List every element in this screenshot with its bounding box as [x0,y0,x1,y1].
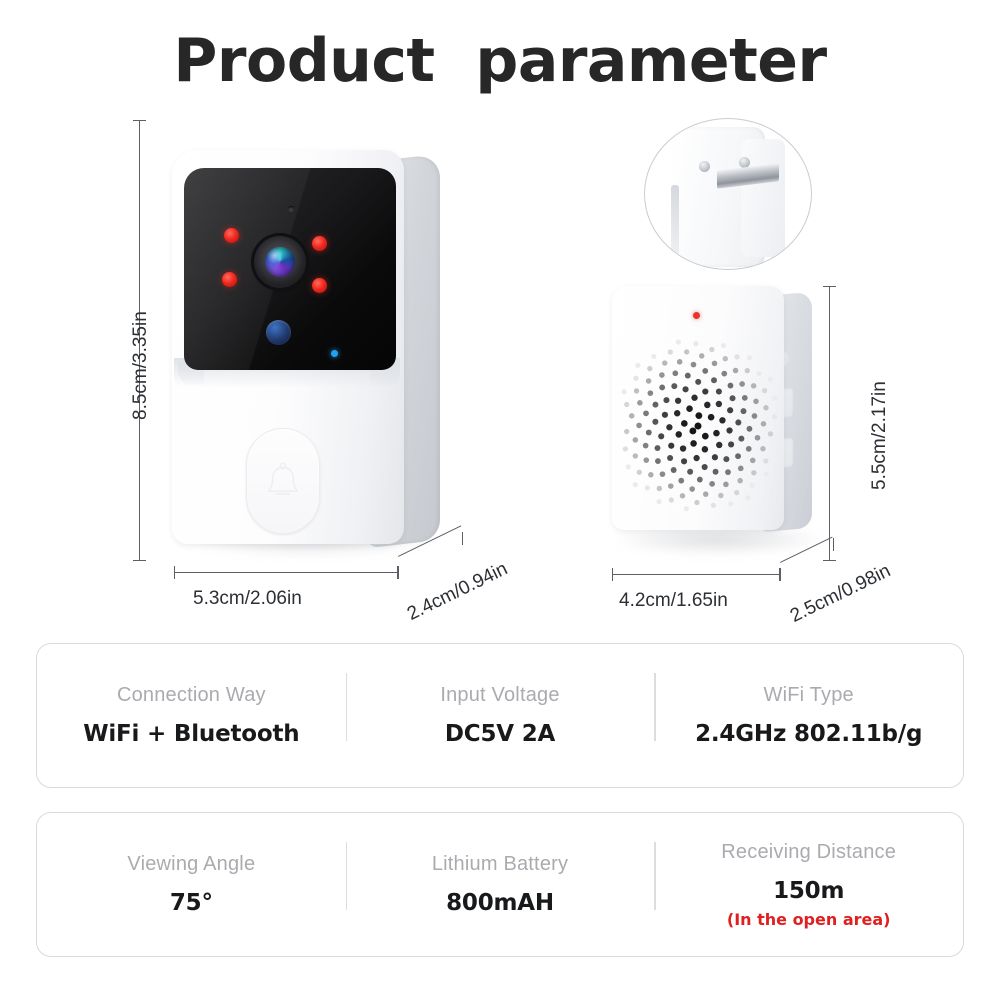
status-led-icon [331,350,338,357]
dimension-cap [780,568,781,581]
camera-lens-icon [254,236,306,288]
spec-value: 2.4GHz 802.11b/g [695,721,922,747]
spec-cell-lithium-battery: Lithium Battery 800mAH [346,813,655,956]
spec-cell-input-voltage: Input Voltage DC5V 2A [346,644,655,787]
plug-detail-inset [644,118,812,270]
chime-product-image [612,280,832,560]
dimension-cap [823,560,836,561]
spec-value: 800mAH [446,890,554,916]
spec-cell-receiving-distance: Receiving Distance 150m (In the open are… [654,813,963,956]
doorbell-width-dimension-line [174,572,398,573]
spec-value: WiFi + Bluetooth [83,721,299,747]
bell-icon [263,460,303,502]
chime-front-body [612,286,784,530]
dimension-cap [398,566,399,579]
doorbell-front-body [172,150,404,544]
spec-card-1: Connection Way WiFi + Bluetooth Input Vo… [36,643,964,788]
chime-status-led-icon [693,312,700,319]
doorbell-product-image [172,120,442,560]
spec-row: Viewing Angle 75° Lithium Battery 800mAH… [37,813,963,956]
spec-row: Connection Way WiFi + Bluetooth Input Vo… [37,644,963,787]
spec-label: Viewing Angle [127,853,255,876]
doorbell-width-label: 5.3cm/2.06in [193,588,302,610]
screw-icon [699,161,710,172]
dimension-cap [133,560,146,561]
spec-value: 75° [170,890,213,916]
dimension-cap [133,120,146,121]
spec-label: Receiving Distance [721,841,896,864]
dimension-cap [823,286,836,287]
ir-led-icon [312,278,327,293]
spec-label: WiFi Type [764,684,854,707]
spec-cell-viewing-angle: Viewing Angle 75° [37,813,346,956]
spec-value: 150m [773,878,844,904]
pir-sensor-icon [266,320,291,345]
page-title: Product parameter [0,26,1000,96]
dimension-cap [612,568,613,581]
doorbell-push-button[interactable] [246,428,320,534]
doorbell-glass-panel [184,168,396,370]
dimension-cap [462,532,463,545]
spec-label: Lithium Battery [432,853,568,876]
ir-led-icon [224,228,239,243]
spec-value: DC5V 2A [445,721,555,747]
microphone-pinhole-icon [288,206,294,212]
spec-card-2: Viewing Angle 75° Lithium Battery 800mAH… [36,812,964,957]
chime-height-dimension-line [829,286,830,560]
chime-height-label: 5.5cm/2.17in [869,381,891,490]
plug-back-body-right [741,139,785,257]
chime-depth-label: 2.5cm/0.98in [787,560,894,627]
spec-cell-wifi-type: WiFi Type 2.4GHz 802.11b/g [654,644,963,787]
spec-note: (In the open area) [727,910,891,929]
chime-width-dimension-line [612,574,780,575]
product-parameter-page: Product parameter [0,0,1000,1000]
ir-led-icon [222,272,237,287]
spec-label: Input Voltage [440,684,559,707]
spec-label: Connection Way [117,684,266,707]
doorbell-height-label: 8.5cm/3.35in [130,311,152,420]
chime-width-label: 4.2cm/1.65in [619,590,728,612]
doorbell-depth-label: 2.4cm/0.94in [404,558,511,625]
plug-seam [671,185,679,263]
spec-cell-connection-way: Connection Way WiFi + Bluetooth [37,644,346,787]
speaker-grille-icon [618,338,778,514]
product-illustration-area: 8.5cm/3.35in 5.3cm/2.06in 2.4cm/0.94in [0,100,1000,630]
ir-led-icon [312,236,327,251]
dimension-cap [833,538,834,551]
dimension-cap [174,566,175,579]
